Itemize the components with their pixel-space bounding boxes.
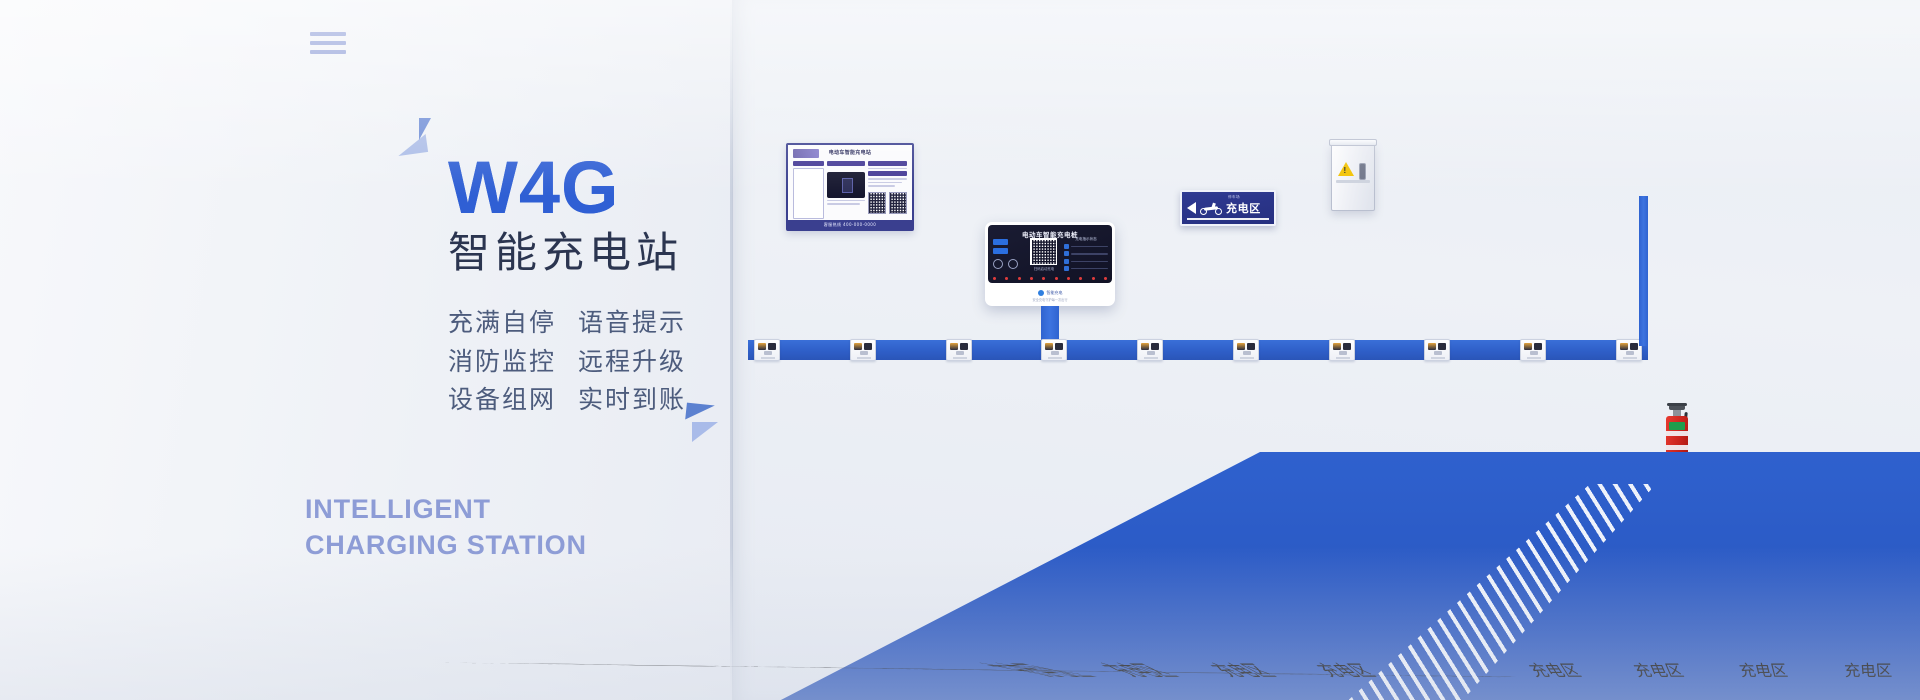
poster-text-line [868, 182, 901, 183]
brand-dot-icon [1038, 290, 1044, 296]
feature-item: 设备组网 [448, 383, 556, 417]
pile-footer: 智能充电 安全充电守护每一次出行 [985, 286, 1115, 306]
poster-section-badge [868, 171, 907, 176]
power-socket-icon [1041, 339, 1067, 361]
power-socket-icon [850, 339, 876, 361]
feature-item: 实时到账 [578, 383, 686, 417]
qr-code-icon [1030, 238, 1057, 265]
hamburger-line [310, 32, 346, 36]
pile-brand-line: 智能充电 [1038, 290, 1063, 296]
hamburger-line [310, 41, 346, 45]
poster-text-line [827, 200, 865, 201]
pile-screen: 电动车智能充电桩 扫码启动充电 充电指示状态 [988, 225, 1112, 283]
promo-banner: W4G 智能充电站 充满自停 语音提示 消防监控 远程升级 设备组网 实时到账 … [0, 0, 1920, 700]
pile-display-bars [993, 239, 1008, 254]
english-tagline: INTELLIGENT CHARGING STATION [305, 492, 725, 563]
feature-list: 充满自停 语音提示 消防监控 远程升级 设备组网 实时到账 [448, 306, 686, 417]
poster-text-line [868, 178, 907, 179]
english-line-1: INTELLIGENT [305, 492, 725, 528]
poster-column [868, 161, 907, 219]
extinguisher-band [1666, 431, 1688, 436]
feature-item: 语音提示 [578, 306, 686, 340]
status-line [1071, 268, 1108, 269]
status-dot [1064, 259, 1069, 264]
pile-led-row [993, 277, 1107, 280]
hero-copy: W4G 智能充电站 充满自停 语音提示 消防监控 远程升级 设备组网 实时到账 [448, 152, 748, 417]
fan-icon [993, 259, 1003, 269]
poster-text-line [827, 203, 859, 204]
english-line-2: CHARGING STATION [305, 528, 725, 564]
poster-flowchart [793, 168, 824, 219]
cabinet-lid [1329, 139, 1377, 146]
power-socket-icon [1616, 339, 1642, 361]
page-subtitle: 智能充电站 [448, 229, 748, 276]
power-socket-icon [1329, 339, 1355, 361]
status-line [1071, 261, 1108, 262]
poster-section-badge [793, 161, 824, 166]
power-socket-icon [1137, 339, 1163, 361]
sign-label: 充电区 [1226, 200, 1261, 216]
poster-column [827, 161, 865, 219]
feature-item: 充满自停 [448, 306, 556, 340]
extinguisher-band [1666, 445, 1688, 450]
status-dot [1064, 251, 1069, 256]
poster-device-image [827, 172, 865, 198]
poster-section-badge [827, 161, 865, 166]
socket-group [748, 340, 1648, 360]
feature-item: 远程升级 [578, 345, 686, 379]
cabinet-handle [1359, 163, 1366, 180]
power-socket-icon [946, 339, 972, 361]
clock-icon [1008, 259, 1018, 269]
hamburger-menu-icon[interactable] [310, 32, 346, 56]
extinguisher-handle [1667, 403, 1687, 406]
status-line [1071, 246, 1108, 247]
poster-qr-group [868, 192, 907, 214]
poster-body [793, 161, 907, 219]
poster-text-line [868, 168, 907, 169]
poster-logo [793, 149, 819, 158]
hamburger-line [310, 50, 346, 54]
power-socket-icon [754, 339, 780, 361]
fire-extinguisher [1666, 400, 1688, 466]
sign-small-label: 停车场 [1228, 195, 1240, 200]
poster-column [793, 161, 824, 219]
status-dot [1064, 244, 1069, 249]
pile-status-panel: 充电指示状态 [1064, 237, 1108, 274]
direction-sign: 充电区 停车场 [1180, 190, 1276, 226]
pile-knob-group [993, 259, 1018, 269]
feature-item: 消防监控 [448, 345, 556, 379]
status-dot [1064, 266, 1069, 271]
qr-code-icon [889, 192, 907, 214]
poster-section-badge [868, 161, 907, 166]
extinguisher-label [1669, 422, 1685, 430]
electrical-cabinet [1331, 143, 1375, 211]
pile-sub-line: 安全充电守护每一次出行 [1032, 297, 1067, 302]
power-socket-icon [1233, 339, 1259, 361]
sign-underline [1187, 218, 1269, 220]
pile-brand-text: 智能充电 [1047, 290, 1063, 296]
power-socket-icon [1424, 339, 1450, 361]
charging-pile-device: 电动车智能充电桩 扫码启动充电 充电指示状态 智能充电 安全充电守护每一次出行 [985, 222, 1115, 306]
pile-panel-heading: 充电指示状态 [1064, 237, 1108, 242]
left-arrow-icon [1187, 202, 1196, 214]
status-line [1071, 253, 1108, 254]
rail-power-feed [1639, 196, 1648, 346]
power-socket-icon [1520, 339, 1546, 361]
qr-code-icon [868, 192, 886, 214]
page-title: W4G [448, 152, 748, 223]
poster-text-line [868, 185, 894, 186]
scooter-icon [1200, 202, 1222, 215]
warning-triangle-icon [1338, 162, 1354, 176]
extinguisher-neck [1673, 410, 1681, 416]
pile-qr-caption: 扫码启动充电 [1028, 266, 1060, 271]
pile-support-pole [1041, 306, 1059, 342]
poster-footer: 客服热线 400-000-0000 [788, 220, 912, 229]
cabinet-label-strip [1336, 180, 1370, 183]
socket-rail [748, 340, 1648, 360]
instruction-poster: 电动车智能充电站 [786, 143, 914, 231]
